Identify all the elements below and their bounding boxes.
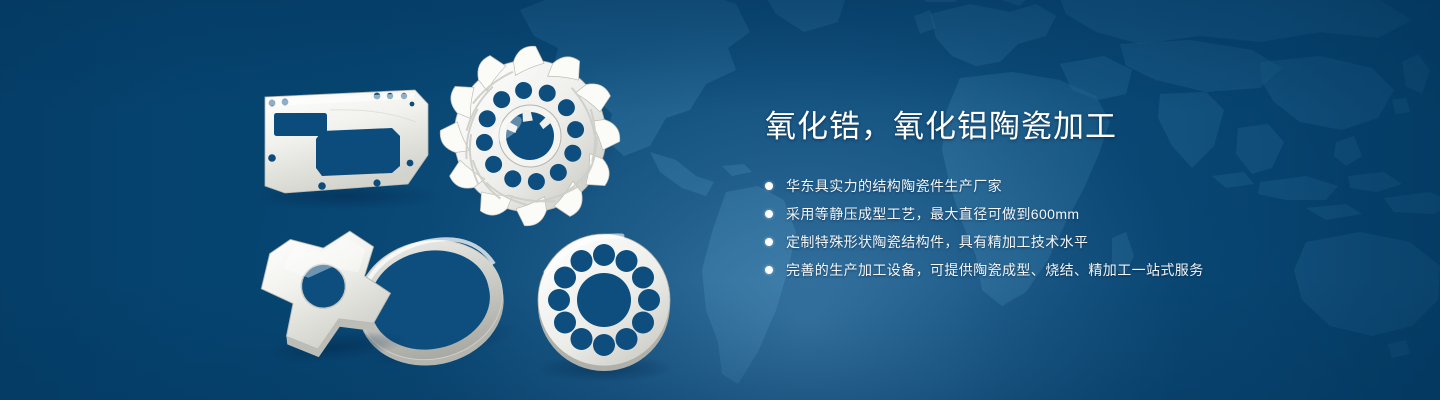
list-item: 华东具实力的结构陶瓷件生产厂家 (765, 176, 1385, 196)
list-item: 采用等静压成型工艺，最大直径可做到600mm (765, 204, 1385, 224)
list-item-label: 采用等静压成型工艺，最大直径可做到600mm (786, 204, 1079, 224)
list-item-label: 完善的生产加工设备，可提供陶瓷成型、烧结、精加工一站式服务 (786, 260, 1204, 280)
hero-banner: 氧化锆，氧化铝陶瓷加工 华东具实力的结构陶瓷件生产厂家 采用等静压成型工艺，最大… (0, 0, 1440, 400)
banner-text-block: 氧化锆，氧化铝陶瓷加工 华东具实力的结构陶瓷件生产厂家 采用等静压成型工艺，最大… (765, 108, 1385, 280)
page-title: 氧化锆，氧化铝陶瓷加工 (765, 108, 1385, 146)
feature-list: 华东具实力的结构陶瓷件生产厂家 采用等静压成型工艺，最大直径可做到600mm 定… (765, 176, 1385, 280)
list-item-label: 定制特殊形状陶瓷结构件，具有精加工技术水平 (786, 232, 1088, 252)
bullet-dot-icon (765, 266, 773, 274)
list-item: 定制特殊形状陶瓷结构件，具有精加工技术水平 (765, 232, 1385, 252)
bullet-dot-icon (765, 210, 773, 218)
list-item-label: 华东具实力的结构陶瓷件生产厂家 (786, 176, 1002, 196)
list-item: 完善的生产加工设备，可提供陶瓷成型、烧结、精加工一站式服务 (765, 260, 1385, 280)
bullet-dot-icon (765, 238, 773, 246)
bullet-dot-icon (765, 182, 773, 190)
